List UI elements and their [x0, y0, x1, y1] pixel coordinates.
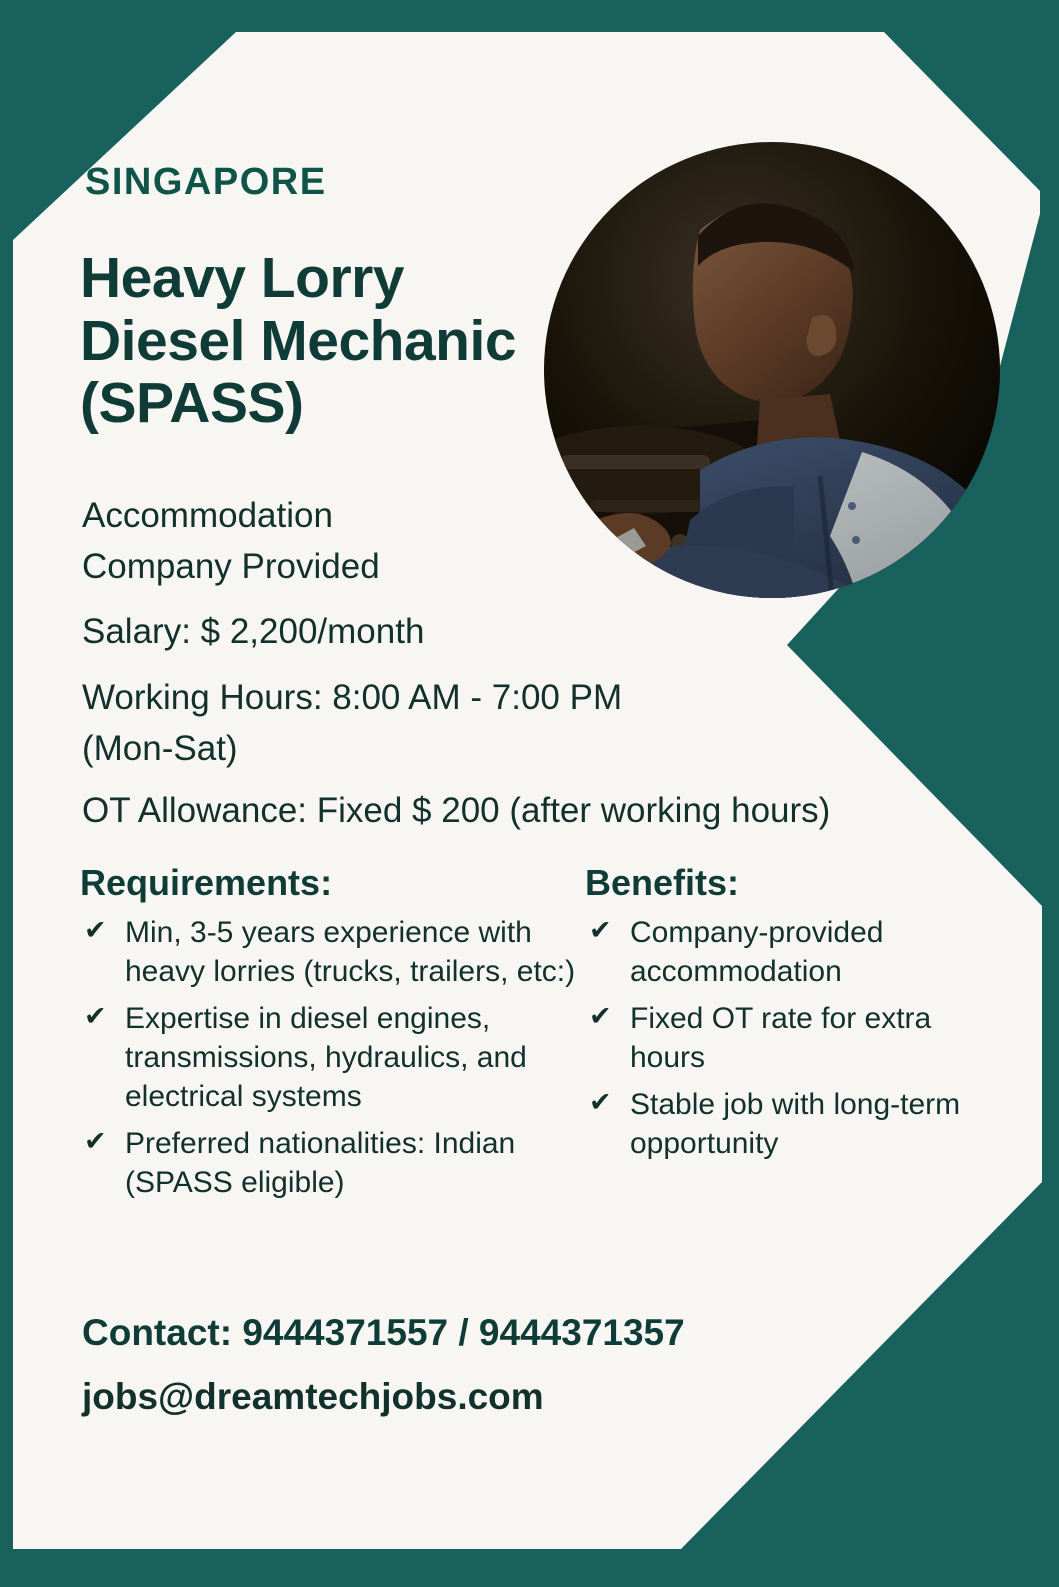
list-item-label: Min, 3-5 years experience with heavy lor…: [125, 916, 575, 988]
working-hours-line-1: Working Hours: 8:00 AM - 7:00 PM: [82, 672, 782, 723]
list-item-label: Preferred nationalities: Indian (SPASS e…: [125, 1127, 515, 1199]
check-icon: ✔: [589, 1084, 612, 1120]
accommodation-line-1: Accommodation: [82, 490, 552, 541]
salary-text: Salary: $ 2,200/month: [82, 606, 552, 657]
country-eyebrow: SINGAPORE: [85, 163, 327, 201]
contact-phone-text[interactable]: Contact: 9444371557 / 9444371357: [82, 1313, 685, 1354]
working-hours-block: Working Hours: 8:00 AM - 7:00 PM (Mon-Sa…: [82, 672, 782, 774]
list-item-label: Company-provided accommodation: [630, 916, 883, 988]
check-icon: ✔: [84, 912, 107, 948]
check-icon: ✔: [589, 912, 612, 948]
list-item-label: Fixed OT rate for extra hours: [630, 1002, 931, 1074]
accommodation-salary-block: Accommodation Company Provided Salary: $…: [82, 490, 552, 657]
requirements-list: ✔ Min, 3-5 years experience with heavy l…: [80, 913, 585, 1202]
benefits-heading: Benefits:: [585, 862, 975, 903]
list-item: ✔ Min, 3-5 years experience with heavy l…: [80, 913, 585, 991]
accommodation-line-2: Company Provided: [82, 541, 552, 592]
spacer: [82, 592, 552, 606]
list-item-label: Expertise in diesel engines, transmissio…: [125, 1002, 527, 1113]
check-icon: ✔: [84, 998, 107, 1034]
benefits-column: Benefits: ✔ Company-provided accommodati…: [585, 862, 975, 1171]
list-item-label: Stable job with long-term opportunity: [630, 1088, 960, 1160]
benefits-list: ✔ Company-provided accommodation ✔ Fixed…: [585, 913, 975, 1163]
requirements-heading: Requirements:: [80, 862, 585, 903]
title-line-1: Heavy Lorry: [80, 247, 600, 310]
check-icon: ✔: [84, 1123, 107, 1159]
list-item: ✔ Expertise in diesel engines, transmiss…: [80, 999, 585, 1116]
title-line-3: (SPASS): [80, 372, 600, 435]
list-item: ✔ Preferred nationalities: Indian (SPASS…: [80, 1124, 585, 1202]
job-poster: SINGAPORE Heavy Lorry Diesel Mechanic (S…: [0, 0, 1059, 1587]
list-item: ✔ Company-provided accommodation: [585, 913, 975, 991]
list-item: ✔ Fixed OT rate for extra hours: [585, 999, 975, 1077]
contact-email-text[interactable]: jobs@dreamtechjobs.com: [82, 1377, 544, 1418]
title-line-2: Diesel Mechanic: [80, 310, 600, 373]
requirements-column: Requirements: ✔ Min, 3-5 years experienc…: [80, 862, 585, 1210]
check-icon: ✔: [589, 998, 612, 1034]
ot-allowance-text: OT Allowance: Fixed $ 200 (after working…: [82, 786, 982, 835]
list-item: ✔ Stable job with long-term opportunity: [585, 1085, 975, 1163]
working-hours-line-2: (Mon-Sat): [82, 723, 782, 774]
page-title: Heavy Lorry Diesel Mechanic (SPASS): [80, 247, 600, 435]
